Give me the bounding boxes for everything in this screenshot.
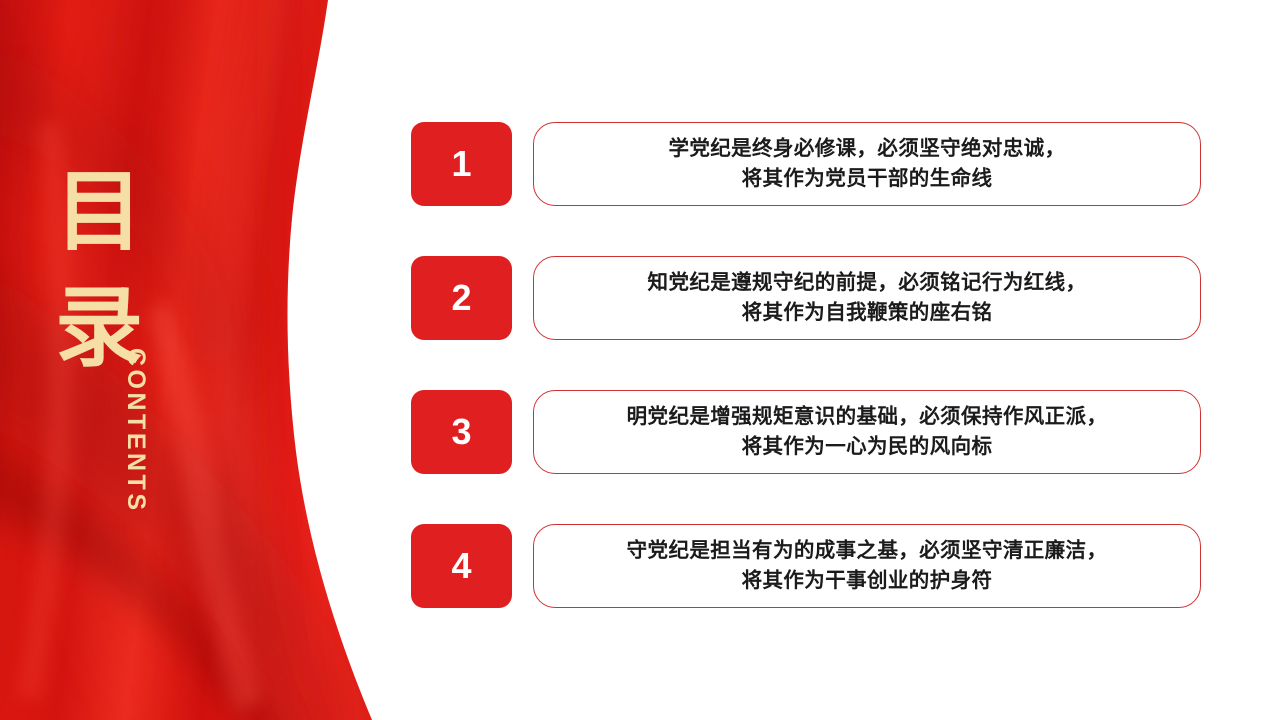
item-text-line-1: 守党纪是担当有为的成事之基，必须坚守清正廉洁， — [627, 536, 1108, 566]
item-text-line-1: 知党纪是遵规守纪的前提，必须铭记行为红线， — [648, 268, 1087, 298]
badge-gap — [512, 256, 533, 340]
toc-title-english: CONTENTS — [121, 348, 150, 514]
item-text-box[interactable]: 守党纪是担当有为的成事之基，必须坚守清正廉洁， 将其作为干事创业的护身符 — [533, 524, 1201, 608]
item-number-badge: 4 — [411, 524, 512, 608]
badge-gap — [512, 390, 533, 474]
badge-gap — [512, 524, 533, 608]
list-item[interactable]: 1 学党纪是终身必修课，必须坚守绝对忠诚， 将其作为党员干部的生命线 — [411, 122, 1201, 206]
slide-canvas: 目 录 CONTENTS 1 学党纪是终身必修课，必须坚守绝对忠诚， 将其作为党… — [0, 0, 1280, 720]
item-text-box[interactable]: 学党纪是终身必修课，必须坚守绝对忠诚， 将其作为党员干部的生命线 — [533, 122, 1201, 206]
item-number-badge: 1 — [411, 122, 512, 206]
item-text-line-2: 将其作为党员干部的生命线 — [742, 164, 993, 194]
list-item[interactable]: 4 守党纪是担当有为的成事之基，必须坚守清正廉洁， 将其作为干事创业的护身符 — [411, 524, 1201, 608]
item-number-badge: 2 — [411, 256, 512, 340]
item-text-box[interactable]: 明党纪是增强规矩意识的基础，必须保持作风正派， 将其作为一心为民的风向标 — [533, 390, 1201, 474]
item-text-line-2: 将其作为自我鞭策的座右铭 — [742, 298, 993, 328]
item-text-line-1: 明党纪是增强规矩意识的基础，必须保持作风正派， — [627, 402, 1108, 432]
badge-gap — [512, 122, 533, 206]
item-text-line-2: 将其作为一心为民的风向标 — [742, 432, 993, 462]
toc-title-char-1: 目 — [55, 168, 145, 256]
item-text-line-1: 学党纪是终身必修课，必须坚守绝对忠诚， — [668, 134, 1065, 164]
contents-list: 1 学党纪是终身必修课，必须坚守绝对忠诚， 将其作为党员干部的生命线 2 知党纪… — [411, 122, 1201, 608]
item-number-badge: 3 — [411, 390, 512, 474]
list-item[interactable]: 2 知党纪是遵规守纪的前提，必须铭记行为红线， 将其作为自我鞭策的座右铭 — [411, 256, 1201, 340]
list-item[interactable]: 3 明党纪是增强规矩意识的基础，必须保持作风正派， 将其作为一心为民的风向标 — [411, 390, 1201, 474]
item-text-line-2: 将其作为干事创业的护身符 — [742, 566, 993, 596]
item-text-box[interactable]: 知党纪是遵规守纪的前提，必须铭记行为红线， 将其作为自我鞭策的座右铭 — [533, 256, 1201, 340]
